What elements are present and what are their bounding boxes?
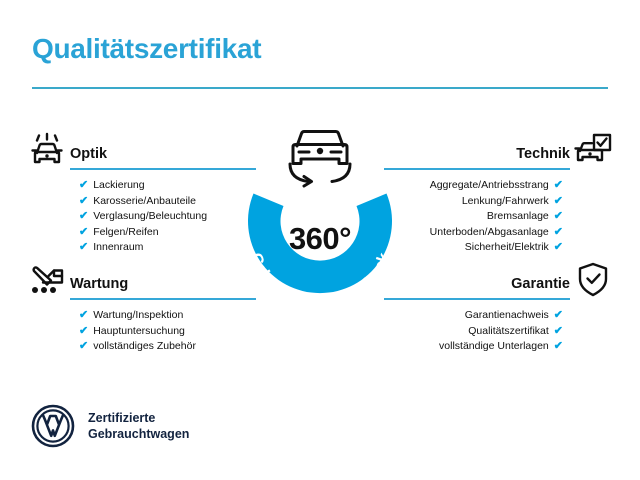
list-item-label: Hauptuntersuchung xyxy=(93,325,185,337)
section-optik: Optik ✔Lackierung ✔Karosserie/Anbauteile… xyxy=(24,128,256,256)
check-icon: ✔ xyxy=(79,194,88,210)
section-underline-garantie xyxy=(384,298,570,300)
list-item-label: Unterboden/Abgasanlage xyxy=(430,226,549,238)
badge-360-gebrauchtwagen-check: Gebrauchtwagen-Check 360° xyxy=(229,118,411,314)
check-icon: ✔ xyxy=(554,178,563,194)
list-item: ✔vollständiges Zubehör xyxy=(79,339,256,355)
list-item-label: Lenkung/Fahrwerk xyxy=(462,195,549,207)
list-item-label: vollständige Unterlagen xyxy=(439,340,549,352)
list-item: ✔Hauptuntersuchung xyxy=(79,324,256,340)
list-item-label: Felgen/Reifen xyxy=(93,226,158,238)
check-icon: ✔ xyxy=(79,308,88,324)
check-icon: ✔ xyxy=(554,339,563,355)
checklist-technik: Aggregate/Antriebsstrang✔ Lenkung/Fahrwe… xyxy=(384,172,616,256)
list-item-label: Qualitätszertifikat xyxy=(468,325,549,337)
footer-brand-line2: Gebrauchtwagen xyxy=(88,426,189,442)
check-icon: ✔ xyxy=(554,324,563,340)
section-title-technik: Technik xyxy=(384,147,570,168)
check-icon: ✔ xyxy=(554,225,563,241)
check-icon: ✔ xyxy=(79,178,88,194)
check-icon: ✔ xyxy=(554,209,563,225)
list-item: vollständige Unterlagen✔ xyxy=(384,339,563,355)
section-garantie: Garantie Garantienachweis✔ Qualitätszert… xyxy=(384,258,616,355)
shield-check-icon xyxy=(570,258,616,302)
list-item-label: Karosserie/Anbauteile xyxy=(93,195,196,207)
badge-degrees: 360° xyxy=(229,221,411,257)
list-item-label: Wartung/Inspektion xyxy=(93,309,183,321)
car-rotation-icon xyxy=(290,132,350,187)
check-icon: ✔ xyxy=(554,240,563,256)
footer-brand: Zertifizierte Gebrauchtwagen xyxy=(31,404,189,448)
section-underline-technik xyxy=(384,168,570,170)
check-icon: ✔ xyxy=(79,339,88,355)
car-checkbox-icon xyxy=(570,128,616,172)
list-item-label: Aggregate/Antriebsstrang xyxy=(430,179,549,191)
list-item-label: Innenraum xyxy=(93,241,143,253)
checklist-wartung: ✔Wartung/Inspektion ✔Hauptuntersuchung ✔… xyxy=(24,302,256,355)
section-title-garantie: Garantie xyxy=(384,277,570,298)
list-item-label: Verglasung/Beleuchtung xyxy=(93,210,207,222)
list-item-label: Bremsanlage xyxy=(487,210,549,222)
checklist-garantie: Garantienachweis✔ Qualitätszertifikat✔ v… xyxy=(384,302,616,355)
list-item-label: Sicherheit/Elektrik xyxy=(465,241,549,253)
check-icon: ✔ xyxy=(79,240,88,256)
list-item-label: vollständiges Zubehör xyxy=(93,340,196,352)
check-icon: ✔ xyxy=(554,308,563,324)
footer-brand-text: Zertifizierte Gebrauchtwagen xyxy=(88,410,189,442)
check-icon: ✔ xyxy=(79,209,88,225)
page-title: Qualitätszertifikat xyxy=(32,33,261,65)
list-item-label: Garantienachweis xyxy=(465,309,549,321)
title-divider xyxy=(32,87,608,89)
check-icon: ✔ xyxy=(554,194,563,210)
list-item: Qualitätszertifikat✔ xyxy=(384,324,563,340)
check-icon: ✔ xyxy=(79,324,88,340)
section-wartung: Wartung ✔Wartung/Inspektion ✔Hauptunters… xyxy=(24,258,256,355)
checklist-optik: ✔Lackierung ✔Karosserie/Anbauteile ✔Verg… xyxy=(24,172,256,256)
check-icon: ✔ xyxy=(79,225,88,241)
section-technik: Technik Aggregate/Antriebsstrang✔ Lenkun… xyxy=(384,128,616,256)
car-shine-icon xyxy=(24,128,70,172)
list-item-label: Lackierung xyxy=(93,179,144,191)
footer-brand-line1: Zertifizierte xyxy=(88,410,189,426)
vw-logo xyxy=(31,404,75,448)
car-wrench-icon xyxy=(24,258,70,302)
